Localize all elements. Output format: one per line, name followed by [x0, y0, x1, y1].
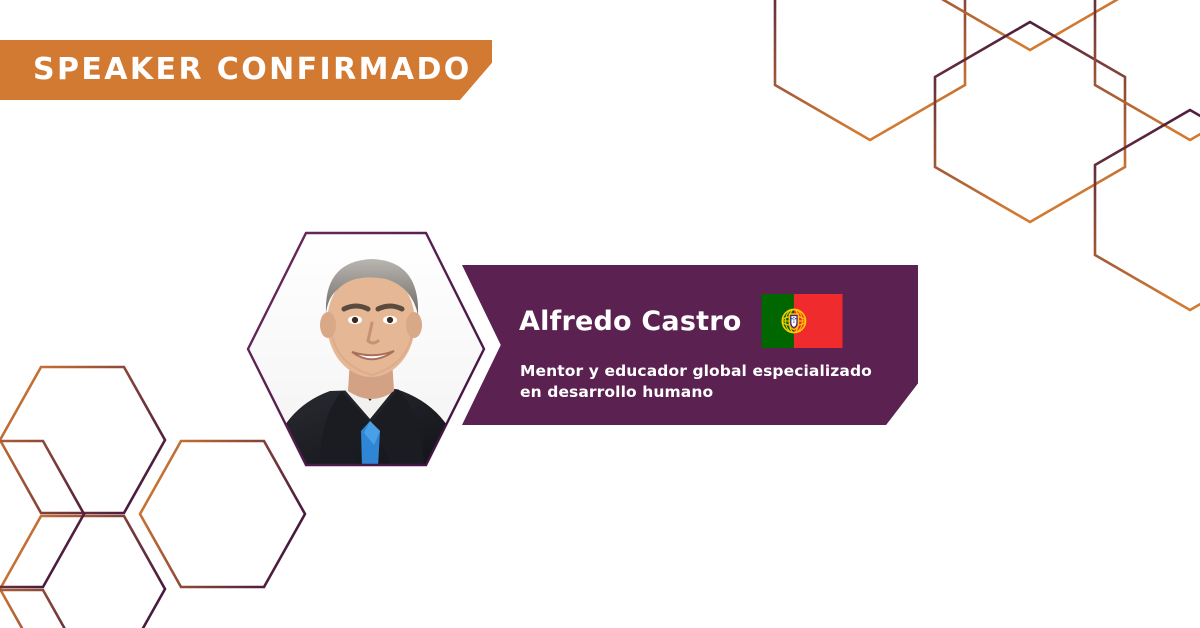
speaker-name-row: Alfredo Castro [519, 294, 845, 348]
banner-label: SPEAKER CONFIRMADO [33, 55, 472, 85]
speaker-announcement-card: SPEAKER CONFIRMADO Alfredo Castro [0, 0, 1200, 628]
portugal-flag-icon [759, 294, 845, 348]
speaker-portrait-hexagon [246, 231, 486, 467]
speaker-confirmed-banner: SPEAKER CONFIRMADO [0, 40, 492, 100]
speaker-info-card: Alfredo Castro [462, 265, 918, 425]
speaker-role: Mentor y educador global especializado e… [520, 361, 900, 403]
speaker-name: Alfredo Castro [519, 308, 741, 335]
